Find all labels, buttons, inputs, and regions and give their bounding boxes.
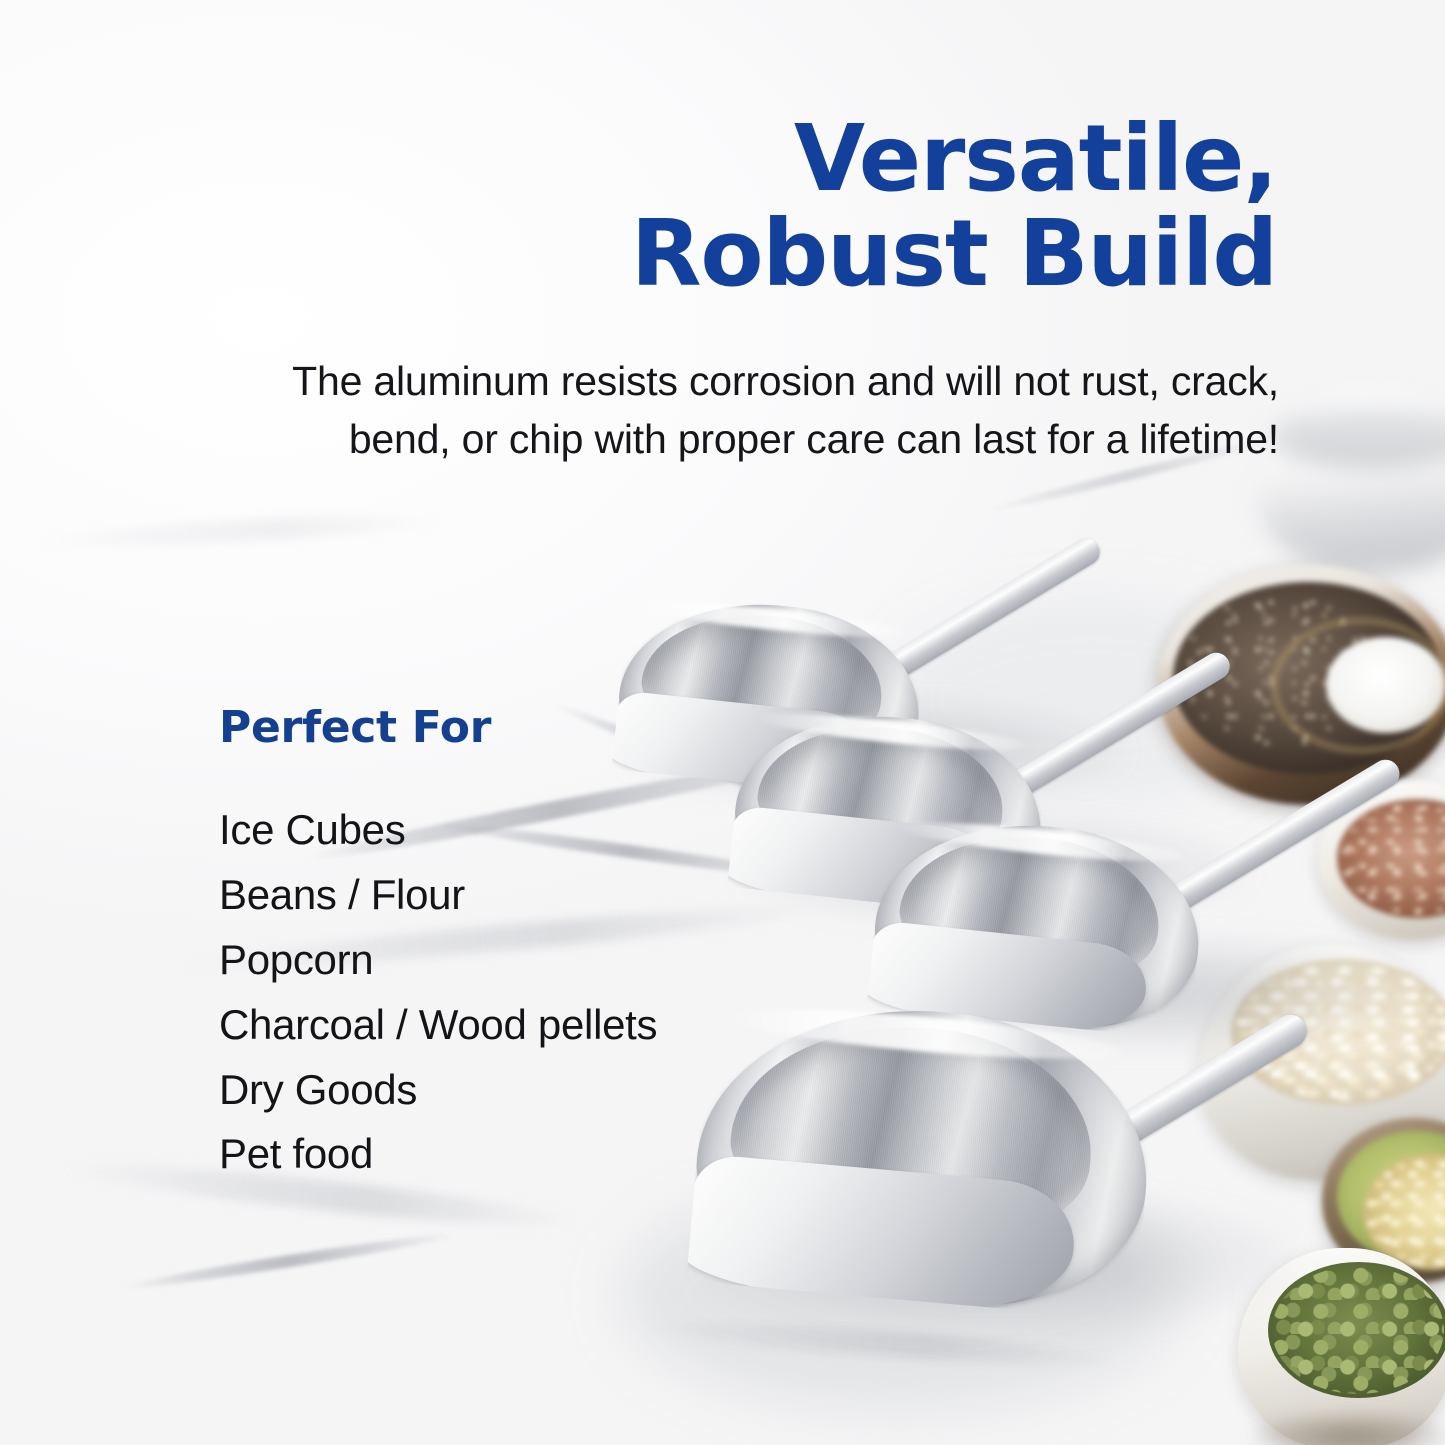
- list-item: Charcoal / Wood pellets: [219, 993, 657, 1058]
- list-item: Beans / Flour: [219, 863, 657, 928]
- perfect-for-heading: Perfect For: [219, 702, 491, 753]
- description-text: The aluminum resists corrosion and will …: [215, 352, 1279, 468]
- headline-line-2: Robust Build: [517, 207, 1277, 302]
- aluminum-scoop: [690, 975, 1310, 1320]
- product-infographic: Versatile, Robust Build The aluminum res…: [0, 0, 1445, 1445]
- bowl-inner-ring: [1272, 618, 1445, 753]
- scoop-bowl: [686, 992, 1160, 1320]
- blurred-white-bowl-top-right: [1258, 392, 1445, 572]
- list-item: Ice Cubes: [219, 798, 657, 863]
- page-title: Versatile, Robust Build: [517, 112, 1277, 302]
- list-item: Pet food: [219, 1122, 657, 1187]
- perfect-for-list: Ice Cubes Beans / Flour Popcorn Charcoal…: [219, 798, 657, 1187]
- list-item: Popcorn: [219, 928, 657, 993]
- headline-line-1: Versatile,: [794, 105, 1277, 212]
- list-item: Dry Goods: [219, 1058, 657, 1123]
